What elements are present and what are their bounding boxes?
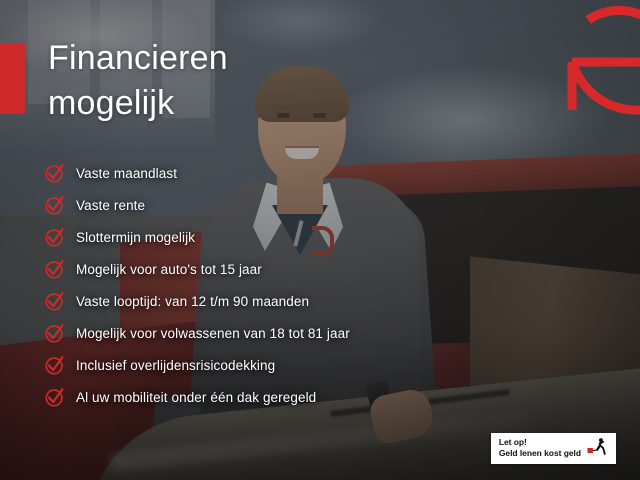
- banner-content: Financieren mogelijk Vaste maandlast: [0, 0, 640, 480]
- circled-checkmark-icon: [44, 162, 66, 184]
- circled-checkmark-icon: [44, 194, 66, 216]
- accent-block: [0, 43, 25, 114]
- list-item-label: Vaste rente: [76, 198, 145, 213]
- circled-checkmark-icon: [44, 322, 66, 344]
- list-item: Inclusief overlijdensrisicodekking: [44, 349, 474, 381]
- page-title: Financieren mogelijk: [48, 36, 408, 126]
- feature-list: Vaste maandlast Vaste rente: [44, 157, 474, 413]
- circled-checkmark-icon: [44, 226, 66, 248]
- list-item: Slottermijn mogelijk: [44, 221, 474, 253]
- walking-person-pulling-block-icon: [587, 437, 609, 459]
- status-badge: Let op! Geld lenen kost geld: [491, 433, 616, 464]
- list-item-label: Mogelijk voor volwassenen van 18 tot 81 …: [76, 326, 350, 341]
- list-item: Vaste rente: [44, 189, 474, 221]
- list-item: Mogelijk voor volwassenen van 18 tot 81 …: [44, 317, 474, 349]
- list-item-label: Slottermijn mogelijk: [76, 230, 195, 245]
- list-item: Vaste looptijd: van 12 t/m 90 maanden: [44, 285, 474, 317]
- list-item: Mogelijk voor auto's tot 15 jaar: [44, 253, 474, 285]
- list-item-label: Inclusief overlijdensrisicodekking: [76, 358, 275, 373]
- list-item: Vaste maandlast: [44, 157, 474, 189]
- list-item-label: Al uw mobiliteit onder één dak geregeld: [76, 390, 316, 405]
- circled-checkmark-icon: [44, 354, 66, 376]
- circled-checkmark-icon: [44, 386, 66, 408]
- list-item: Al uw mobiliteit onder één dak geregeld: [44, 381, 474, 413]
- list-item-label: Vaste looptijd: van 12 t/m 90 maanden: [76, 294, 309, 309]
- circled-checkmark-icon: [44, 290, 66, 312]
- warning-badge-text: Let op! Geld lenen kost geld: [499, 437, 581, 459]
- list-item-label: Mogelijk voor auto's tot 15 jaar: [76, 262, 262, 277]
- circular-arrow-logo-icon: [556, 4, 640, 124]
- promo-banner: Financieren mogelijk Vaste maandlast: [0, 0, 640, 480]
- circled-checkmark-icon: [44, 258, 66, 280]
- list-item-label: Vaste maandlast: [76, 166, 177, 181]
